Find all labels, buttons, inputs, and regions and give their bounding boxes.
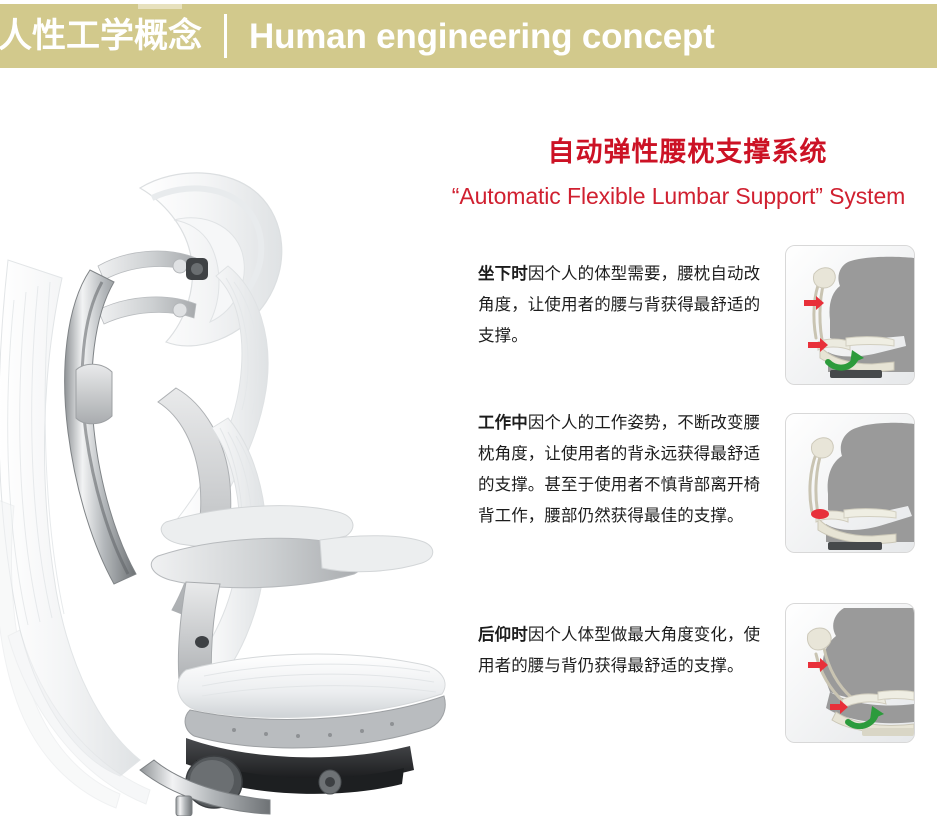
chair-illustration <box>0 70 460 816</box>
header-title-cn: 人性工学概念 <box>0 19 202 53</box>
header-titles: 人性工学概念 Human engineering concept <box>0 4 937 68</box>
feature-text: 后仰时因个人体型做最大角度变化，使用者的腰与背仍获得最舒适的支撑。 <box>478 619 768 681</box>
feature-row: 后仰时因个人体型做最大角度变化，使用者的腰与背仍获得最舒适的支撑。 <box>420 585 937 745</box>
section-heading-en: “Automatic Flexible Lumbar Support” Syst… <box>420 184 937 209</box>
feature-thumbnail[interactable] <box>785 413 915 553</box>
header-title-en: Human engineering concept <box>249 19 715 54</box>
feature-rows: 坐下时因个人的体型需要，腰枕自动改角度，让使用者的腰与背获得最舒适的支撑。 <box>420 240 937 745</box>
feature-row: 坐下时因个人的体型需要，腰枕自动改角度，让使用者的腰与背获得最舒适的支撑。 <box>420 240 937 395</box>
feature-lead: 后仰时 <box>478 625 528 644</box>
reclined-diagram-icon <box>786 604 914 742</box>
feature-row: 工作中因个人的工作姿势，不断改变腰枕角度，让使用者的背永远获得最舒适的支撑。甚至… <box>420 395 937 585</box>
section-heading-cn: 自动弹性腰枕支撑系统 <box>438 138 937 168</box>
header-band: 人性工学概念 Human engineering concept <box>0 4 937 68</box>
hero-chair-image <box>0 70 460 816</box>
brochure-page: 人性工学概念 Human engineering concept <box>0 0 937 816</box>
feature-text: 坐下时因个人的体型需要，腰枕自动改角度，让使用者的腰与背获得最舒适的支撑。 <box>478 258 768 351</box>
content-column: 自动弹性腰枕支撑系统 “Automatic Flexible Lumbar Su… <box>420 130 937 816</box>
feature-thumbnail[interactable] <box>785 245 915 385</box>
header-divider <box>224 14 227 58</box>
feature-thumbnail[interactable] <box>785 603 915 743</box>
feature-text: 工作中因个人的工作姿势，不断改变腰枕角度，让使用者的背永远获得最舒适的支撑。甚至… <box>478 407 768 531</box>
seated-upright-diagram-icon <box>786 246 914 384</box>
feature-lead: 工作中 <box>478 413 528 432</box>
feature-lead: 坐下时 <box>478 264 528 283</box>
working-forward-diagram-icon <box>786 414 914 552</box>
